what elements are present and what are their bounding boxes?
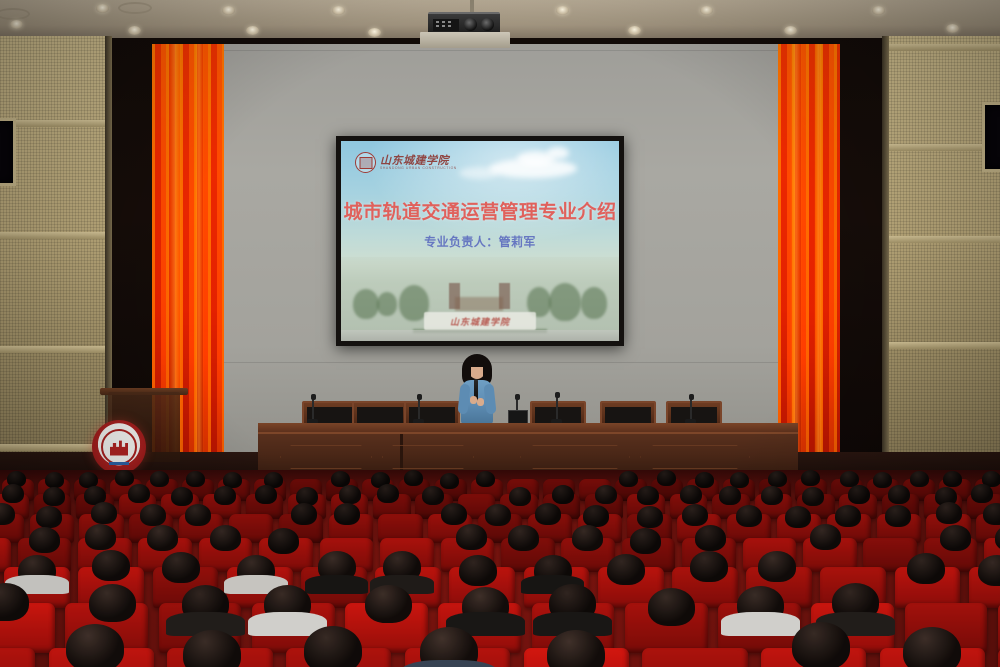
downlight	[96, 4, 109, 13]
audience-member	[595, 485, 617, 504]
audience-member	[971, 484, 993, 503]
audience-member	[2, 484, 24, 503]
acoustic-panel-wall-right	[882, 36, 1000, 486]
presenter	[455, 352, 499, 426]
audience-member	[89, 584, 136, 622]
audience-member	[365, 585, 412, 623]
downlight	[128, 26, 141, 35]
audience-member	[291, 503, 317, 525]
audience-member	[648, 588, 695, 626]
school-seal-icon: 山东城建学院 SHANDONG URBAN CONSTRUCTION	[355, 152, 457, 173]
audience-member	[695, 525, 726, 551]
audience-member	[92, 550, 130, 581]
microphone-icon	[690, 398, 692, 420]
slide-logo-en: SHANDONG URBAN CONSTRUCTION	[380, 167, 457, 170]
audience-member	[485, 504, 511, 526]
audience-member	[940, 525, 971, 551]
audience-member	[140, 504, 166, 526]
downlight	[946, 24, 959, 33]
audience-member	[572, 525, 603, 551]
slide-campus-photo: 山东城建学院	[341, 257, 619, 341]
audience-member	[983, 503, 1000, 525]
audience-member	[758, 551, 796, 582]
audience-member	[810, 524, 841, 550]
auditorium-scene: 山东城建学院 SHANDONG URBAN CONSTRUCTION 城市轨道交…	[0, 0, 1000, 667]
audience-member	[903, 627, 961, 667]
audience-member	[907, 553, 945, 584]
auditorium-seat	[0, 648, 35, 667]
downlight	[10, 20, 23, 29]
school-seal-icon	[92, 420, 146, 474]
audience-member	[210, 525, 241, 551]
campus-gate-sign: 山东城建学院	[424, 312, 535, 330]
audience-member	[792, 622, 850, 667]
audience-member	[304, 626, 362, 667]
downlight	[332, 6, 345, 15]
stage-chair	[600, 401, 656, 425]
audience-member	[66, 624, 124, 667]
laptop-icon	[508, 410, 528, 424]
microphone-icon	[312, 398, 314, 420]
audience-member	[377, 484, 399, 503]
slide-title: 城市轨道交通运营管理专业介绍	[341, 197, 619, 224]
projection-screen: 山东城建学院 SHANDONG URBAN CONSTRUCTION 城市轨道交…	[336, 136, 624, 346]
audience-member	[85, 524, 116, 550]
audience-member	[690, 551, 728, 582]
audience-member	[535, 503, 561, 525]
audience-member	[547, 630, 605, 667]
audience-member	[185, 504, 211, 526]
audience-member	[91, 502, 117, 524]
audience-seating	[0, 470, 1000, 667]
downlight	[556, 6, 569, 15]
auditorium-seat	[642, 648, 747, 667]
downlight	[628, 26, 641, 35]
downlight	[368, 28, 381, 37]
stage-chair	[352, 401, 408, 425]
audience-member	[607, 554, 645, 585]
wall-window-left	[0, 118, 16, 186]
audience-row	[0, 622, 1000, 667]
downlight	[222, 6, 235, 15]
audience-member	[147, 525, 178, 551]
downlight	[246, 26, 259, 35]
audience-member	[339, 485, 361, 504]
audience-member	[183, 630, 241, 667]
wall-window-right	[982, 102, 1000, 172]
downlight	[784, 26, 797, 35]
audience-member	[162, 552, 200, 583]
campus-gate-text: 山东城建学院	[450, 315, 510, 328]
presentation-slide: 山东城建学院 SHANDONG URBAN CONSTRUCTION 城市轨道交…	[341, 141, 619, 341]
audience-member	[936, 502, 962, 524]
microphone-icon	[418, 398, 420, 420]
downlight	[872, 6, 885, 15]
audience-member	[128, 484, 150, 503]
audience-member	[508, 525, 539, 551]
audience-member	[456, 524, 487, 550]
audience-member	[441, 503, 467, 525]
slide-subtitle: 专业负责人：管莉军	[341, 233, 619, 250]
audience-member	[334, 503, 360, 525]
audience-member	[682, 504, 708, 526]
downlight	[700, 6, 713, 15]
microphone-icon	[556, 396, 558, 420]
slide-logo-cn: 山东城建学院	[380, 155, 457, 166]
acoustic-panel-wall-left	[0, 36, 112, 486]
stage-curtain-right	[778, 44, 840, 474]
